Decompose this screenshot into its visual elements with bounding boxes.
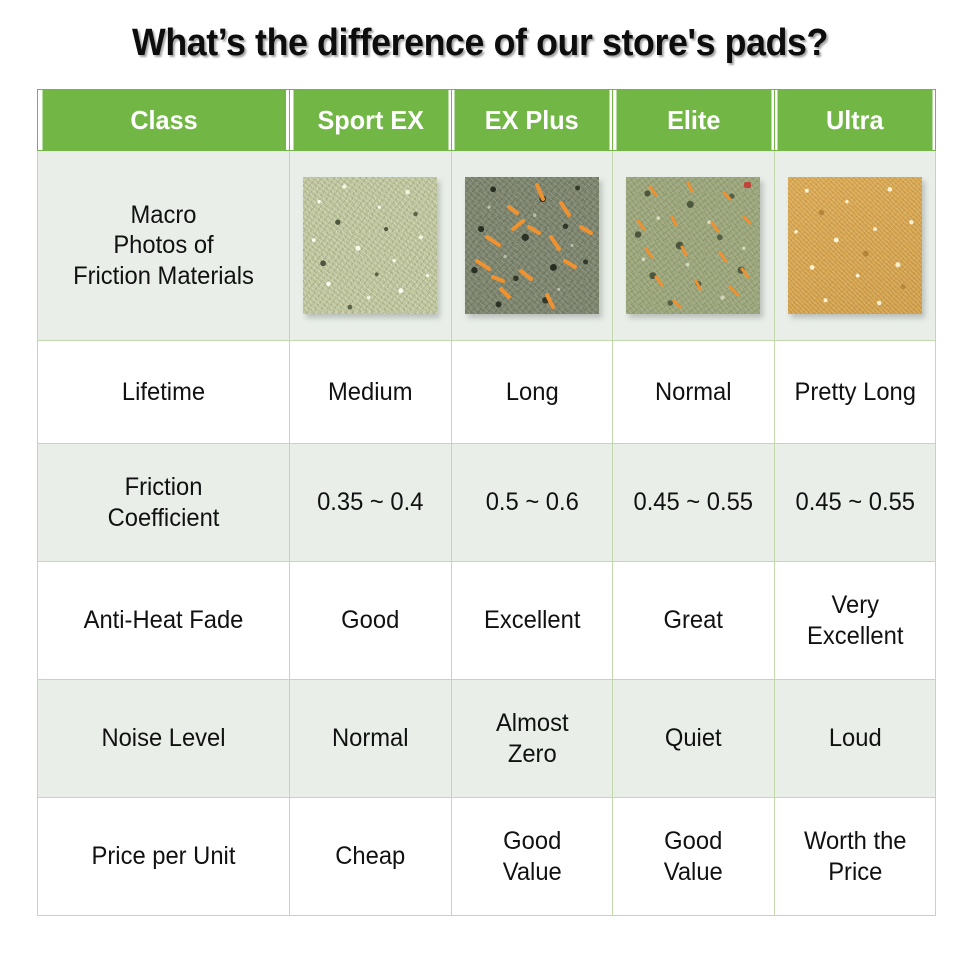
cell-price-sport-ex: Cheap bbox=[290, 798, 452, 916]
macro-photo-ultra bbox=[788, 177, 922, 314]
table-row-noise-level: Noise Level Normal AlmostZero Quiet Loud bbox=[38, 680, 936, 798]
row-label-text: Anti-Heat Fade bbox=[44, 605, 282, 636]
cell-lifetime-ex-plus: Long bbox=[451, 341, 613, 444]
cell-macro-photo-sport-ex bbox=[290, 151, 452, 341]
cell-friction-sport-ex: 0.35 ~ 0.4 bbox=[290, 444, 452, 562]
cell-price-elite: GoodValue bbox=[613, 798, 775, 916]
column-header-elite: Elite bbox=[615, 90, 772, 151]
orange-fiber-overlay bbox=[465, 177, 599, 314]
cell-value: Pretty Long bbox=[779, 377, 931, 408]
table-row-macro-photos: MacroPhotos ofFriction Materials bbox=[38, 151, 936, 341]
cell-lifetime-ultra: Pretty Long bbox=[774, 341, 936, 444]
column-header-ex-plus: EX Plus bbox=[453, 90, 610, 151]
texture-layer bbox=[788, 177, 922, 314]
page-title: What’s the difference of our store's pad… bbox=[29, 22, 931, 65]
pad-comparison-table: Class Sport EX EX Plus Elite Ultra Macro… bbox=[37, 89, 936, 916]
cell-lifetime-elite: Normal bbox=[613, 341, 775, 444]
red-fleck bbox=[744, 182, 751, 188]
texture-layer bbox=[303, 177, 437, 314]
macro-photo-elite bbox=[626, 177, 760, 314]
cell-value: Normal bbox=[294, 723, 446, 754]
cell-anti-heat-fade-sport-ex: Good bbox=[290, 562, 452, 680]
cell-value: Great bbox=[617, 605, 769, 636]
macro-photo-sport-ex bbox=[303, 177, 437, 314]
row-label-text: Noise Level bbox=[44, 723, 282, 754]
cell-anti-heat-fade-ultra: VeryExcellent bbox=[774, 562, 936, 680]
cell-value: 0.45 ~ 0.55 bbox=[779, 487, 931, 518]
cell-value: GoodValue bbox=[456, 826, 608, 887]
table-row-anti-heat-fade: Anti-Heat Fade Good Excellent Great Very… bbox=[38, 562, 936, 680]
cell-noise-level-elite: Quiet bbox=[613, 680, 775, 798]
cell-value: Good bbox=[294, 605, 446, 636]
column-header-sport-ex: Sport EX bbox=[292, 90, 449, 151]
cell-macro-photo-elite bbox=[613, 151, 775, 341]
cell-value: Medium bbox=[294, 377, 446, 408]
cell-value: Cheap bbox=[294, 841, 446, 872]
column-header-ultra: Ultra bbox=[776, 90, 933, 151]
orange-fleck-overlay bbox=[626, 177, 760, 314]
row-label-text: FrictionCoefficient bbox=[44, 472, 282, 533]
column-header-class: Class bbox=[41, 90, 285, 151]
row-label-text: Price per Unit bbox=[44, 841, 282, 872]
cell-anti-heat-fade-ex-plus: Excellent bbox=[451, 562, 613, 680]
cell-value: Long bbox=[456, 377, 608, 408]
cell-value: VeryExcellent bbox=[779, 590, 931, 651]
macro-photo-ex-plus bbox=[465, 177, 599, 314]
table-row-friction-coefficient: FrictionCoefficient 0.35 ~ 0.4 0.5 ~ 0.6… bbox=[38, 444, 936, 562]
cell-noise-level-ultra: Loud bbox=[774, 680, 936, 798]
cell-value: Excellent bbox=[456, 605, 608, 636]
cell-friction-ultra: 0.45 ~ 0.55 bbox=[774, 444, 936, 562]
cell-macro-photo-ultra bbox=[774, 151, 936, 341]
cell-macro-photo-ex-plus bbox=[451, 151, 613, 341]
cell-value: Worth thePrice bbox=[779, 826, 931, 887]
row-label-text: MacroPhotos ofFriction Materials bbox=[44, 200, 282, 292]
comparison-table-page: What’s the difference of our store's pad… bbox=[0, 0, 960, 960]
cell-noise-level-sport-ex: Normal bbox=[290, 680, 452, 798]
cell-value: 0.45 ~ 0.55 bbox=[617, 487, 769, 518]
cell-noise-level-ex-plus: AlmostZero bbox=[451, 680, 613, 798]
cell-value: Normal bbox=[617, 377, 769, 408]
cell-value: GoodValue bbox=[617, 826, 769, 887]
cell-lifetime-sport-ex: Medium bbox=[290, 341, 452, 444]
cell-value: AlmostZero bbox=[456, 708, 608, 769]
table-row-price-per-unit: Price per Unit Cheap GoodValue GoodValue… bbox=[38, 798, 936, 916]
cell-value: Quiet bbox=[617, 723, 769, 754]
row-label-text: Lifetime bbox=[44, 377, 282, 408]
row-label-macro-photos: MacroPhotos ofFriction Materials bbox=[38, 151, 290, 341]
cell-friction-ex-plus: 0.5 ~ 0.6 bbox=[451, 444, 613, 562]
cell-friction-elite: 0.45 ~ 0.55 bbox=[613, 444, 775, 562]
cell-value: Loud bbox=[779, 723, 931, 754]
row-label-lifetime: Lifetime bbox=[38, 341, 290, 444]
row-label-noise-level: Noise Level bbox=[38, 680, 290, 798]
table-row-lifetime: Lifetime Medium Long Normal Pretty Long bbox=[38, 341, 936, 444]
row-label-anti-heat-fade: Anti-Heat Fade bbox=[38, 562, 290, 680]
cell-value: 0.35 ~ 0.4 bbox=[294, 487, 446, 518]
cell-price-ex-plus: GoodValue bbox=[451, 798, 613, 916]
cell-value: 0.5 ~ 0.6 bbox=[456, 487, 608, 518]
cell-anti-heat-fade-elite: Great bbox=[613, 562, 775, 680]
row-label-friction-coefficient: FrictionCoefficient bbox=[38, 444, 290, 562]
row-label-price-per-unit: Price per Unit bbox=[38, 798, 290, 916]
cell-price-ultra: Worth thePrice bbox=[774, 798, 936, 916]
table-header-row: Class Sport EX EX Plus Elite Ultra bbox=[38, 90, 936, 151]
